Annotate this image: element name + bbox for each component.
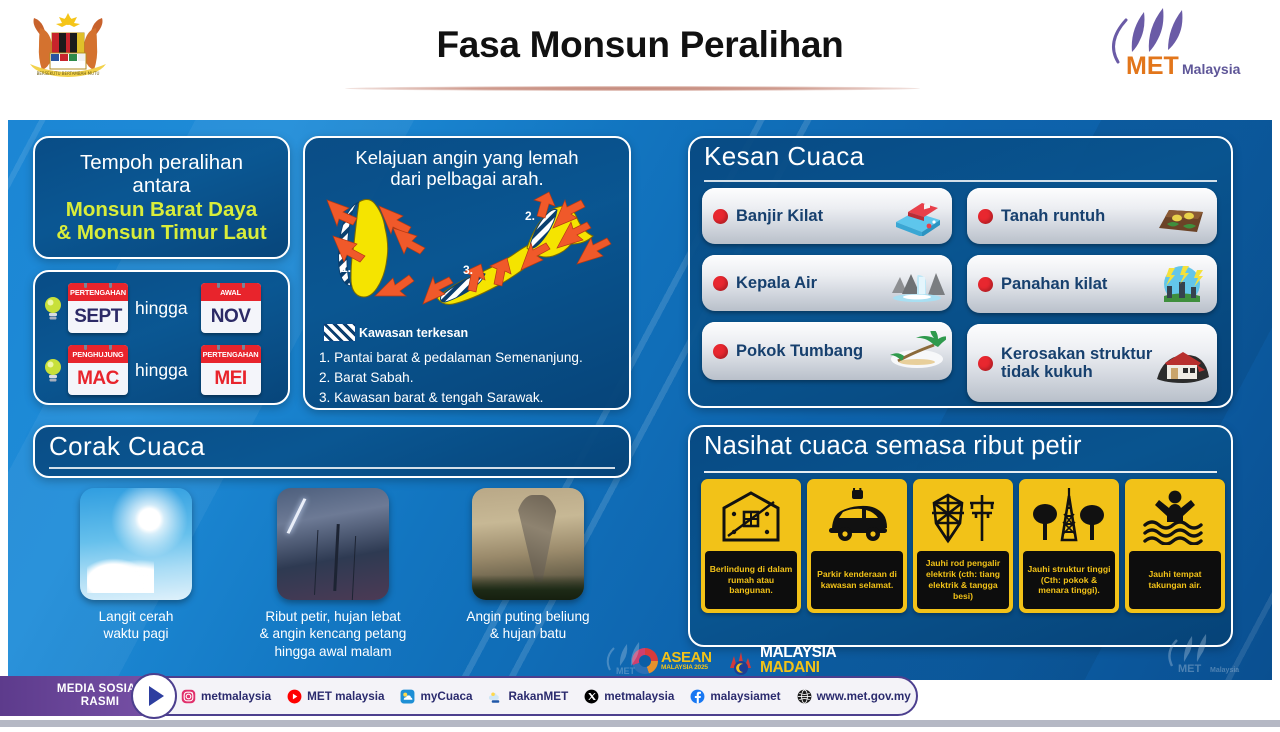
effects-column-right: Tanah runtuh Panahan kilat xyxy=(967,188,1217,413)
red-bullet-icon xyxy=(978,277,993,292)
calendar-qualifier: PERTENGAHAN xyxy=(68,283,128,301)
affected-area-item: 1. Pantai barat & pedalaman Semenanjung. xyxy=(319,348,624,368)
social-handle: RakanMET xyxy=(508,690,568,703)
social-accounts-strip: metmalaysia MET malaysia myCuaca xyxy=(133,676,918,716)
section-divider xyxy=(704,180,1217,182)
globe-website-icon xyxy=(797,689,812,704)
weather-photo-item: Ribut petir, hujan lebat & angin kencang… xyxy=(238,488,428,660)
affected-areas-list: 1. Pantai barat & pedalaman Semenanjung.… xyxy=(319,348,624,408)
nasihat-title: Nasihat cuaca semasa ribut petir xyxy=(704,432,1231,461)
weather-pattern-photos: Langit cerah waktu pagi Ribut petir, huj… xyxy=(33,488,633,663)
effect-label: Pokok Tumbang xyxy=(736,342,863,360)
lightning-strike-icon xyxy=(1153,264,1211,304)
effect-label: Kepala Air xyxy=(736,274,817,292)
fallen-tree-icon xyxy=(888,331,946,371)
red-bullet-icon xyxy=(713,344,728,359)
svg-text:Malaysia: Malaysia xyxy=(1210,667,1239,674)
rakanmet-icon xyxy=(488,689,503,704)
play-button[interactable] xyxy=(131,673,177,719)
red-bullet-icon xyxy=(978,356,993,371)
lightbulb-icon xyxy=(44,357,62,383)
parked-car-lock-icon xyxy=(825,488,889,546)
corak-cuaca-title: Corak Cuaca xyxy=(49,431,629,462)
photo-caption-line: & hujan batu xyxy=(433,625,623,642)
weather-effects-card: Kesan Cuaca Banjir Kilat xyxy=(688,136,1233,408)
calendar-card-to: PERTENGAHAN MEI xyxy=(201,345,261,395)
legend-label: Kawasan terkesan xyxy=(359,326,468,340)
calendar-qualifier: PERTENGAHAN xyxy=(201,345,261,363)
social-handle: metmalaysia xyxy=(201,690,271,703)
flood-house-icon xyxy=(888,196,946,236)
met-logo-text: MET xyxy=(1126,52,1179,80)
red-bullet-icon xyxy=(713,276,728,291)
affected-area-item: 2. Barat Sabah. xyxy=(319,368,624,388)
photo-caption-line: Ribut petir, hujan lebat xyxy=(238,608,428,625)
social-account-facebook[interactable]: malaysiamet xyxy=(690,689,780,704)
malaysia-map-graphic: 1. 2. 3. xyxy=(313,186,623,316)
instagram-icon xyxy=(181,689,196,704)
thunderstorm-photo xyxy=(277,488,389,600)
landslide-icon xyxy=(1153,196,1211,236)
madani-emblem-icon xyxy=(726,646,756,676)
calendar-qualifier: AWAL xyxy=(201,283,261,301)
photo-caption-line: waktu pagi xyxy=(41,625,231,642)
wind-title-line-1: Kelajuan angin yang lemah xyxy=(305,147,629,168)
infographic-canvas: Tempoh peralihan antara Monsun Barat Day… xyxy=(8,120,1272,680)
hatched-swatch-icon xyxy=(323,323,356,342)
social-label-line-2: RASMI xyxy=(81,696,120,709)
waterfall-icon xyxy=(888,263,946,303)
weather-photo-item: Angin puting beliung & hujan batu xyxy=(433,488,623,643)
section-divider xyxy=(49,467,615,469)
photo-caption-line: Angin puting beliung xyxy=(433,608,623,625)
social-handle: MET malaysia xyxy=(307,690,384,703)
effect-item-tanah-runtuh: Tanah runtuh xyxy=(967,188,1217,244)
period-line-4: & Monsun Timur Laut xyxy=(56,221,266,244)
effect-item-panahan-kilat: Panahan kilat xyxy=(967,255,1217,313)
photo-caption-line: & angin kencang petang xyxy=(238,625,428,642)
map-marker-3: 3. xyxy=(463,263,473,277)
red-bullet-icon xyxy=(713,209,728,224)
transition-period-card: Tempoh peralihan antara Monsun Barat Day… xyxy=(33,136,290,259)
social-handle: metmalaysia xyxy=(604,690,674,703)
social-handle: www.met.gov.my xyxy=(817,690,911,703)
slide-root: BERSEKUTU BERTAMBAH MUTU Fasa Monsun Per… xyxy=(0,0,1280,732)
social-account-x[interactable]: metmalaysia xyxy=(584,689,674,704)
calendar-card-from: PENGHUJUNG MAC xyxy=(68,345,128,395)
person-in-water-icon xyxy=(1141,489,1209,545)
effect-item-kepala-air: Kepala Air xyxy=(702,255,952,311)
title-underline-decoration xyxy=(345,86,920,91)
period-line-1: Tempoh peralihan xyxy=(56,151,266,174)
advice-text: Jauhi struktur tinggi (Cth: pokok & mena… xyxy=(1026,564,1112,596)
madani-line-2: MADANI xyxy=(760,661,836,676)
calendar-month: MAC xyxy=(68,363,128,395)
advice-text: Parkir kenderaan di kawasan selamat. xyxy=(814,569,900,591)
effect-label: Panahan kilat xyxy=(1001,275,1107,293)
social-account-website[interactable]: www.met.gov.my xyxy=(797,689,911,704)
effect-label: Kerosakan struktur tidak kukuh xyxy=(1001,345,1153,381)
map-legend: Kawasan terkesan xyxy=(323,323,468,342)
photo-caption-line: hingga awal malam xyxy=(238,643,428,660)
calendar-month: SEPT xyxy=(68,301,128,333)
sunny-sky-photo xyxy=(80,488,192,600)
effects-column-left: Banjir Kilat xyxy=(702,188,952,391)
bottom-divider xyxy=(0,720,1280,727)
calendar-month: MEI xyxy=(201,363,261,395)
calendar-card-from: PERTENGAHAN SEPT xyxy=(68,283,128,333)
power-pylon-icon xyxy=(926,489,1000,545)
advice-text: Berlindung di dalam rumah atau bangunan. xyxy=(708,564,794,596)
social-account-mycuaca[interactable]: myCuaca xyxy=(400,689,472,704)
social-handle: malaysiamet xyxy=(710,690,780,703)
effect-item-pokok-tumbang: Pokok Tumbang xyxy=(702,322,952,380)
youtube-icon xyxy=(287,689,302,704)
effect-item-kerosakan-struktur: Kerosakan struktur tidak kukuh xyxy=(967,324,1217,402)
facebook-icon xyxy=(690,689,705,704)
weather-photo-item: Langit cerah waktu pagi xyxy=(41,488,231,643)
calendar-card-to: AWAL NOV xyxy=(201,283,261,333)
effect-label: Banjir Kilat xyxy=(736,207,823,225)
map-marker-2: 2. xyxy=(525,209,535,223)
advice-tile: Berlindung di dalam rumah atau bangunan. xyxy=(701,479,801,613)
red-bullet-icon xyxy=(978,209,993,224)
period-line-3: Monsun Barat Daya xyxy=(56,198,266,221)
calendar-month: NOV xyxy=(201,301,261,333)
page-title: Fasa Monsun Peralihan xyxy=(300,24,980,66)
slide-header: BERSEKUTU BERTAMBAH MUTU Fasa Monsun Per… xyxy=(0,0,1280,118)
mycuaca-app-icon xyxy=(400,689,415,704)
date-range-row: PERTENGAHAN SEPT hingga AWAL NOV xyxy=(35,278,288,338)
map-marker-1: 1. xyxy=(341,261,351,275)
svg-text:MET: MET xyxy=(1178,663,1202,674)
social-account-instagram[interactable]: metmalaysia xyxy=(181,689,271,704)
social-media-bar: MEDIA SOSIAL RASMI metmalaysia MET malay… xyxy=(0,676,918,716)
shelter-house-icon xyxy=(720,488,782,546)
met-watermark-right: MET Malaysia xyxy=(1158,630,1250,674)
monsoon-dates-card: PERTENGAHAN SEPT hingga AWAL NOV xyxy=(33,270,290,405)
kesan-cuaca-title: Kesan Cuaca xyxy=(704,141,1231,172)
social-account-rakanmet[interactable]: RakanMET xyxy=(488,689,568,704)
advice-tile: Jauhi rod pengalir elektrik (cth: tiang … xyxy=(913,479,1013,613)
x-twitter-icon xyxy=(584,689,599,704)
weather-pattern-header-card: Corak Cuaca xyxy=(33,425,631,478)
advice-tile: Jauhi tempat takungan air. xyxy=(1125,479,1225,613)
advice-text: Jauhi rod pengalir elektrik (cth: tiang … xyxy=(920,558,1006,601)
malaysia-madani-logo: MALAYSIA MADANI xyxy=(726,644,836,678)
affected-area-item: 3. Kawasan barat & tengah Sarawak. xyxy=(319,388,624,408)
weather-advice-card: Nasihat cuaca semasa ribut petir xyxy=(688,425,1233,647)
damaged-house-icon xyxy=(1153,343,1211,383)
effect-label: Tanah runtuh xyxy=(1001,207,1105,225)
advice-text: Jauhi tempat takungan air. xyxy=(1132,569,1218,591)
wind-speed-card: Kelajuan angin yang lemah dari pelbagai … xyxy=(303,136,631,410)
calendar-qualifier: PENGHUJUNG xyxy=(68,345,128,363)
social-account-youtube[interactable]: MET malaysia xyxy=(287,689,384,704)
tornado-photo xyxy=(472,488,584,600)
range-connector-label: hingga xyxy=(135,298,188,319)
social-handle: myCuaca xyxy=(420,690,472,703)
tall-tower-trees-icon xyxy=(1032,488,1106,546)
met-watermark-center: MET xyxy=(598,640,672,676)
svg-text:BERSEKUTU BERTAMBAH MUTU: BERSEKUTU BERTAMBAH MUTU xyxy=(37,71,100,76)
met-logo-subtext: Malaysia xyxy=(1182,61,1241,77)
advice-tile: Jauhi struktur tinggi (Cth: pokok & mena… xyxy=(1019,479,1119,613)
section-divider xyxy=(704,471,1217,473)
range-connector-label: hingga xyxy=(135,360,188,381)
advice-tile: Parkir kenderaan di kawasan selamat. xyxy=(807,479,907,613)
advice-tiles: Berlindung di dalam rumah atau bangunan. xyxy=(701,479,1225,613)
play-triangle-icon xyxy=(149,686,164,706)
period-line-2: antara xyxy=(56,174,266,197)
lightbulb-icon xyxy=(44,295,62,321)
met-malaysia-logo: MET Malaysia xyxy=(1094,4,1244,82)
malaysia-coat-of-arms-icon: BERSEKUTU BERTAMBAH MUTU xyxy=(16,6,120,84)
svg-text:MET: MET xyxy=(616,666,636,676)
photo-caption-line: Langit cerah xyxy=(41,608,231,625)
date-range-row: PENGHUJUNG MAC hingga PERTENGAHAN MEI xyxy=(35,340,288,400)
effect-item-banjir-kilat: Banjir Kilat xyxy=(702,188,952,244)
